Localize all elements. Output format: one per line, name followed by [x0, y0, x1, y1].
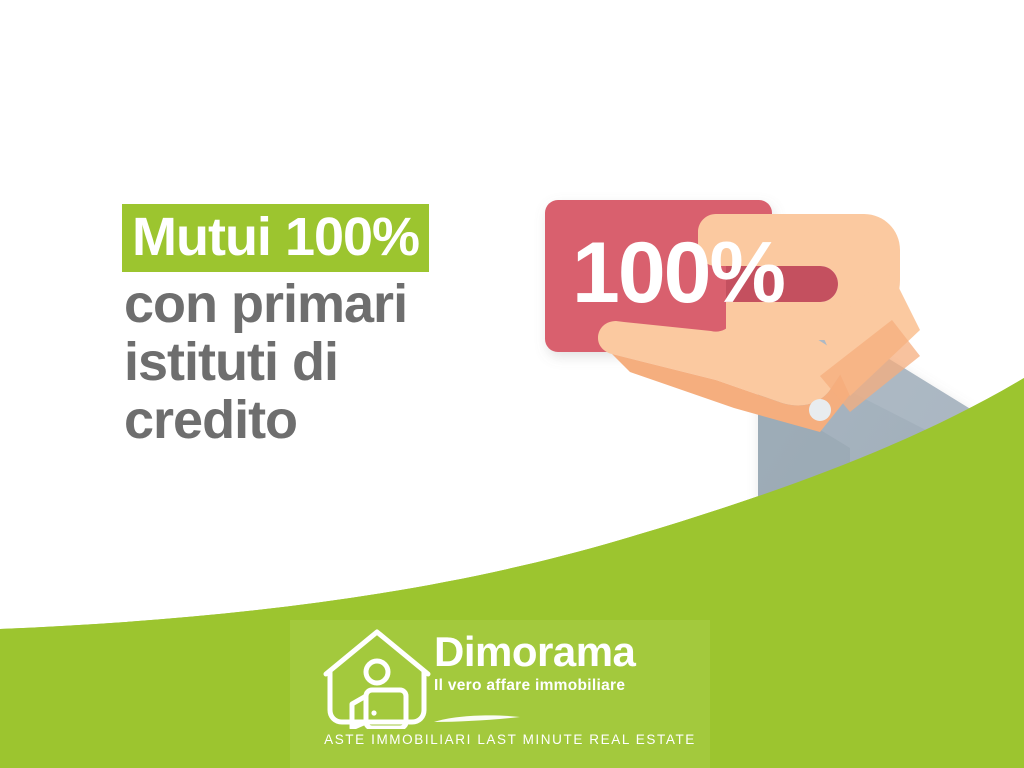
house-with-open-door-icon	[322, 624, 432, 729]
underline-swoosh-icon	[432, 713, 522, 725]
dimorama-logo[interactable]: Dimorama Il vero affare immobiliare ASTE…	[322, 624, 692, 754]
logo-wordmark: Dimorama Il vero affare immobiliare	[434, 630, 689, 696]
logo-strapline: ASTE IMMOBILIARI LAST MINUTE REAL ESTATE	[320, 732, 700, 747]
logo-tagline: Il vero affare immobiliare	[434, 676, 689, 696]
promo-banner: Mutui 100% con primari istituti di credi…	[0, 0, 1024, 768]
logo-name: Dimorama	[434, 630, 689, 674]
